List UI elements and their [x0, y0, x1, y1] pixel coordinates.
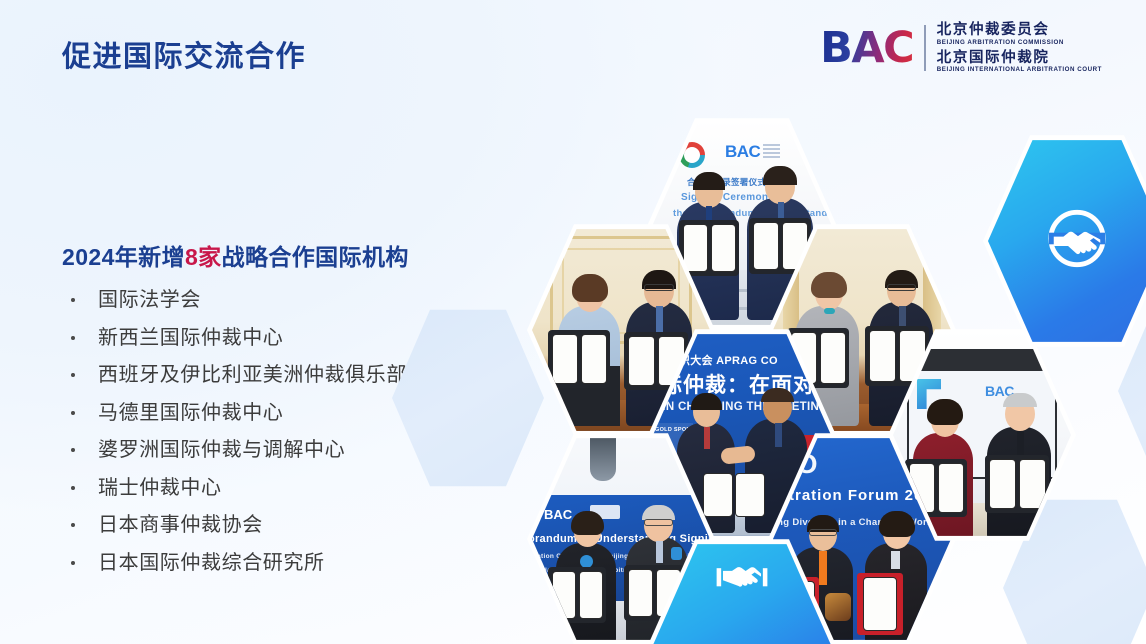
list-item: 日本商事仲裁协会	[62, 515, 492, 535]
bac-wordmark: BAC	[820, 27, 913, 70]
handshake-icon	[713, 563, 771, 612]
subhead-accent-count: 8家	[185, 244, 222, 270]
photo-logo-bac: BAC	[544, 507, 572, 522]
subhead-suffix: 战略合作国际机构	[222, 244, 409, 270]
photo-logo-bac: BAC	[725, 142, 760, 162]
slide-root: 促进国际交流合作 BAC 北京仲裁委员会 BEIJING ARBITRATION…	[0, 0, 1146, 644]
logo-cn-court: 北京国际仲裁院	[937, 50, 1102, 67]
logo-en-commission: BEIJING ARBITRATION COMMISSION	[937, 39, 1102, 47]
logo-row-commission: 北京仲裁委员会 BEIJING ARBITRATION COMMISSION	[937, 22, 1102, 47]
list-item: 国际法学会	[62, 290, 492, 310]
logo-divider	[924, 25, 926, 71]
photo-caption-en: ON IN CHANGING THE MEETING	[653, 401, 828, 413]
logo-cn-commission: 北京仲裁委员会	[937, 22, 1102, 39]
handshake-circle-icon	[1046, 208, 1108, 275]
hex-tile-handshake-circle[interactable]	[988, 137, 1146, 345]
page-title: 促进国际交流合作	[62, 33, 306, 75]
list-item: 瑞士仲裁中心	[62, 478, 492, 498]
list-item: 日本国际仲裁综合研究所	[62, 553, 492, 573]
logo-text-block: 北京仲裁委员会 BEIJING ARBITRATION COMMISSION 北…	[937, 22, 1102, 74]
logo-en-court: BEIJING INTERNATIONAL ARBITRATION COURT	[937, 66, 1102, 74]
logo-row-court: 北京国际仲裁院 BEIJING INTERNATIONAL ARBITRATIO…	[937, 50, 1102, 75]
content-subhead: 2024年新增8家战略合作国际机构	[62, 238, 492, 272]
bac-logo: BAC 北京仲裁委员会 BEIJING ARBITRATION COMMISSI…	[820, 22, 1102, 74]
photo-caption-en-1: Memorandum of Understanding Signing Cere…	[532, 533, 710, 545]
subhead-prefix: 2024年新增	[62, 244, 185, 270]
